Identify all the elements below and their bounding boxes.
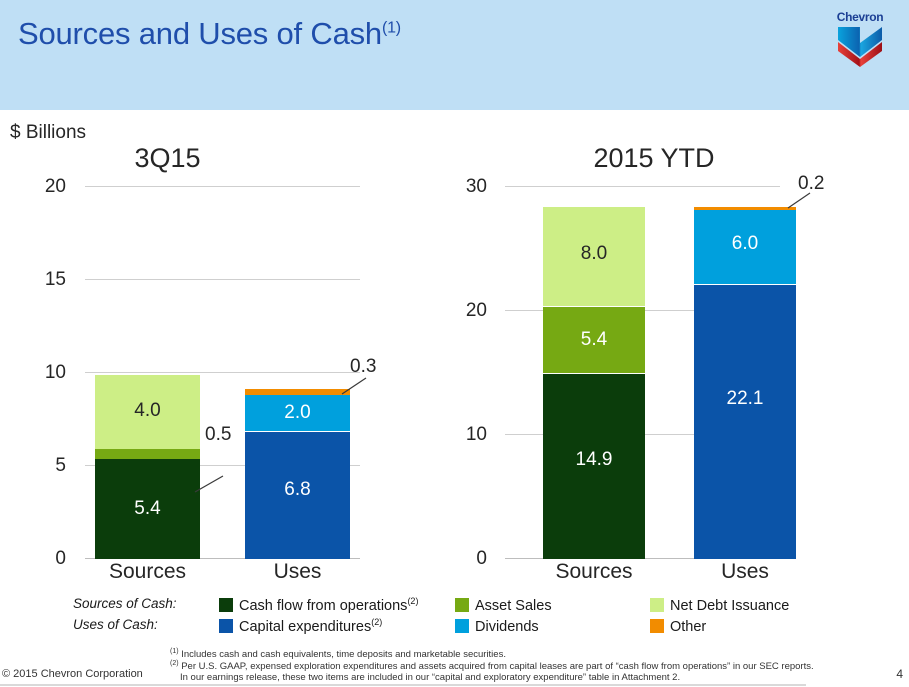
footnote-2-text-line2: In our earnings release, these two items… xyxy=(180,672,680,683)
ytick-label-10: 10 xyxy=(443,424,487,446)
page-title-superscript: (1) xyxy=(382,20,401,37)
segment-value: 6.8 xyxy=(245,480,350,499)
gridline-10 xyxy=(85,372,360,373)
callout-value-other: 0.2 xyxy=(798,173,824,195)
segment-cash-flow-from-operations[interactable]: 14.9 xyxy=(543,374,645,559)
segment-value: 5.4 xyxy=(95,499,200,518)
segment-net-debt-issuance[interactable]: 4.0 xyxy=(95,375,200,449)
footnote-2-marker: (2) xyxy=(170,660,179,667)
plot-area-3q15: 20 15 10 5 0 5.4 4.0 0.5 6.8 2.0 xyxy=(0,140,455,590)
copyright-notice: © 2015 Chevron Corporation xyxy=(2,668,143,680)
page-number: 4 xyxy=(896,667,903,681)
legend-label-text: Capital expenditures xyxy=(239,619,371,635)
gridline-30 xyxy=(505,186,780,187)
footnote-2-continued: In our earnings release, these two items… xyxy=(180,672,680,683)
footnote-1-text: Includes cash and cash equivalents, time… xyxy=(181,649,506,660)
legend-row-label-uses: Uses of Cash: xyxy=(73,617,158,632)
legend-label-other: Other xyxy=(670,617,706,635)
page-title-text: Sources and Uses of Cash xyxy=(18,16,382,51)
callout-value-other: 0.3 xyxy=(350,356,376,378)
legend-label-text: Asset Sales xyxy=(475,598,552,614)
segment-value: 5.4 xyxy=(543,330,645,349)
bar-uses-2015ytd[interactable]: 22.1 6.0 xyxy=(694,207,796,559)
segment-capital-expenditures[interactable]: 22.1 xyxy=(694,285,796,559)
segment-asset-sales[interactable]: 5.4 xyxy=(543,307,645,373)
gridline-15 xyxy=(85,279,360,280)
segment-net-debt-issuance[interactable]: 8.0 xyxy=(543,207,645,306)
category-label-uses: Uses xyxy=(245,560,350,584)
bar-sources-2015ytd[interactable]: 14.9 5.4 8.0 xyxy=(543,207,645,559)
callout-leader-0point5 xyxy=(195,470,235,495)
legend-label-text: Net Debt Issuance xyxy=(670,598,789,614)
ytick-label-20: 20 xyxy=(443,300,487,322)
legend-row-label-sources: Sources of Cash: xyxy=(73,596,177,611)
chart-3q15: 3Q15 20 15 10 5 0 5.4 4.0 0.5 xyxy=(0,140,455,590)
segment-capital-expenditures[interactable]: 6.8 xyxy=(245,432,350,559)
footnote-2: (2) Per U.S. GAAP, expensed exploration … xyxy=(170,660,814,672)
legend-label-dividends: Dividends xyxy=(475,617,539,635)
footnote-1-marker: (1) xyxy=(170,648,179,655)
legend-swatch-dividends xyxy=(455,619,469,633)
segment-value: 14.9 xyxy=(543,450,645,469)
legend-label-text: Cash flow from operations xyxy=(239,598,407,614)
category-label-sources: Sources xyxy=(95,560,200,584)
chart-legend: Sources of Cash: Uses of Cash: Cash flow… xyxy=(0,592,909,638)
footnote-1: (1) Includes cash and cash equivalents, … xyxy=(170,648,506,660)
legend-label-superscript: (2) xyxy=(371,617,382,627)
ytick-label-15: 15 xyxy=(22,269,66,291)
segment-other[interactable] xyxy=(694,207,796,210)
bar-uses-3q15[interactable]: 6.8 2.0 xyxy=(245,390,350,559)
legend-swatch-cash-flow-from-operations xyxy=(219,598,233,612)
ytick-label-20: 20 xyxy=(22,176,66,198)
ytick-label-10: 10 xyxy=(22,362,66,384)
chevron-logo: Chevron xyxy=(827,10,893,68)
legend-swatch-net-debt-issuance xyxy=(650,598,664,612)
category-label-uses: Uses xyxy=(694,560,796,584)
legend-label-asset-sales: Asset Sales xyxy=(475,596,552,614)
segment-value: 6.0 xyxy=(694,234,796,253)
legend-label-cash-flow-from-operations: Cash flow from operations(2) xyxy=(239,596,418,614)
segment-value: 2.0 xyxy=(245,403,350,422)
segment-value: 8.0 xyxy=(543,244,645,263)
category-label-sources: Sources xyxy=(543,560,645,584)
page-title: Sources and Uses of Cash(1) xyxy=(18,16,401,52)
segment-other[interactable] xyxy=(245,389,350,395)
legend-label-superscript: (2) xyxy=(407,596,418,606)
ytick-label-30: 30 xyxy=(443,176,487,198)
ytick-label-0: 0 xyxy=(22,548,66,570)
legend-swatch-asset-sales xyxy=(455,598,469,612)
bar-sources-3q15[interactable]: 5.4 4.0 xyxy=(95,375,200,559)
footnote-2-text-line1: Per U.S. GAAP, expensed exploration expe… xyxy=(181,661,813,672)
legend-label-text: Other xyxy=(670,619,706,635)
legend-swatch-other xyxy=(650,619,664,633)
chart-2015-ytd: 2015 YTD 30 20 10 0 14.9 5.4 8.0 22.1 xyxy=(455,140,909,590)
segment-asset-sales[interactable] xyxy=(95,449,200,458)
legend-swatch-capital-expenditures xyxy=(219,619,233,633)
segment-dividends[interactable]: 6.0 xyxy=(694,210,796,284)
segment-value: 22.1 xyxy=(694,389,796,408)
plot-area-2015-ytd: 30 20 10 0 14.9 5.4 8.0 22.1 6.0 xyxy=(455,140,909,590)
gridline-20 xyxy=(85,186,360,187)
ytick-label-5: 5 xyxy=(22,455,66,477)
segment-dividends[interactable]: 2.0 xyxy=(245,395,350,431)
legend-label-net-debt-issuance: Net Debt Issuance xyxy=(670,596,789,614)
legend-label-capital-expenditures: Capital expenditures(2) xyxy=(239,617,382,635)
legend-label-text: Dividends xyxy=(475,619,539,635)
segment-value: 4.0 xyxy=(95,401,200,420)
footer-divider xyxy=(0,684,806,686)
ytick-label-0: 0 xyxy=(443,548,487,570)
segment-cash-flow-from-operations[interactable]: 5.4 xyxy=(95,459,200,559)
callout-value-asset-sales: 0.5 xyxy=(205,424,231,446)
chevron-hallmark-icon xyxy=(827,10,893,68)
